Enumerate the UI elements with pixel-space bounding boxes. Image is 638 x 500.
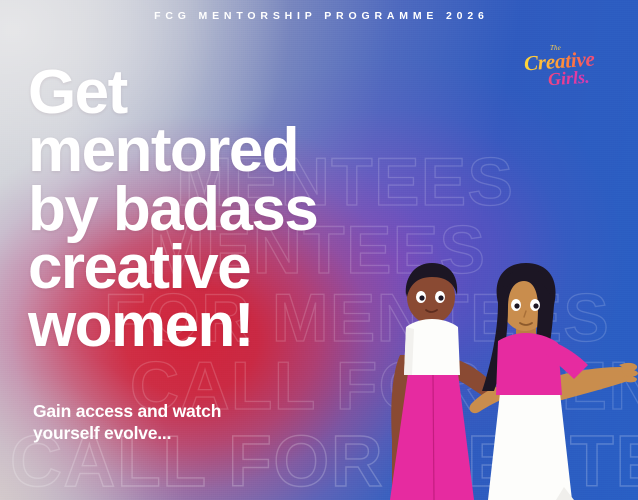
the-creative-girls-logo[interactable]: The Creative Girls. (522, 44, 614, 90)
programme-eyebrow: FCG MENTORSHIP PROGRAMME 2026 (0, 10, 638, 22)
headline-line: mentored (28, 122, 317, 180)
two-women-illustration (388, 255, 638, 500)
headline: Get mentored by badass creative women! (28, 64, 317, 355)
subtitle-line: yourself evolve... (33, 422, 221, 444)
mentor-figure-left (390, 263, 501, 500)
headline-line: creative (28, 239, 317, 297)
headline-line: Get (28, 64, 317, 122)
logo-word-girls: Girls. (547, 67, 590, 91)
headline-line: women! (28, 297, 317, 355)
mentee-figure-right (470, 263, 638, 500)
headline-line: by badass (28, 181, 317, 239)
subtitle-line: Gain access and watch (33, 400, 221, 422)
subtitle: Gain access and watch yourself evolve... (33, 400, 221, 445)
poster-canvas: MENTEES MENTEES FOR MENTEES CALL FOR MEN… (0, 0, 638, 500)
